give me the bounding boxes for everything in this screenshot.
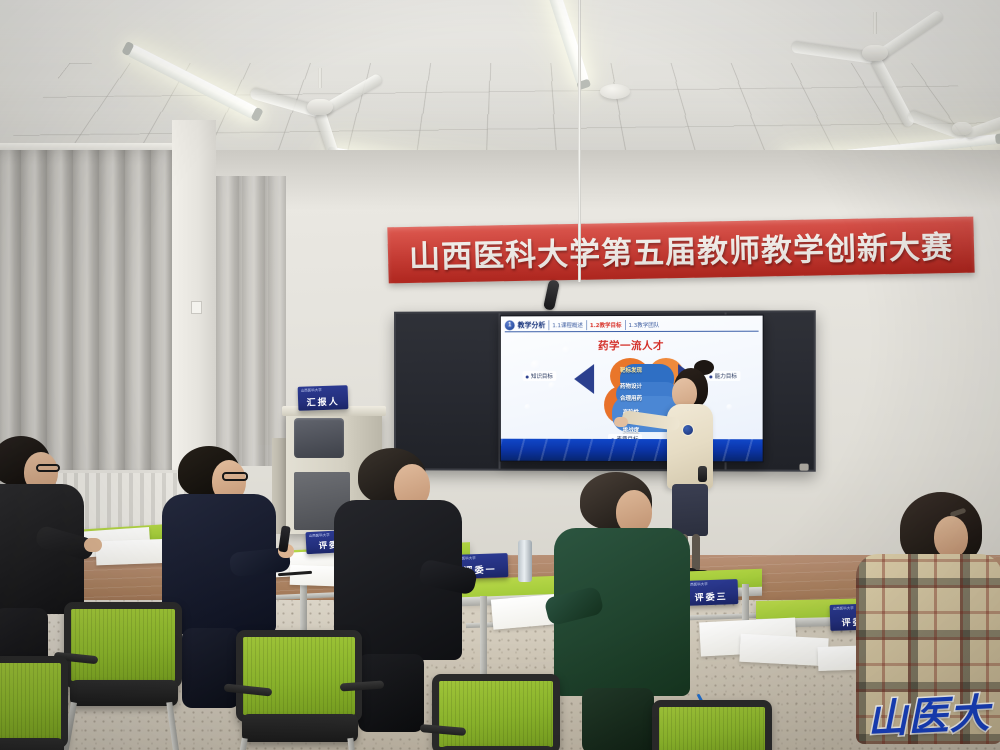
plate-label: 汇报人: [298, 394, 348, 409]
ceiling-fan-icon: [255, 84, 385, 130]
leg: [182, 628, 240, 708]
slide-tab-3[interactable]: 1.3教学团队: [629, 321, 660, 329]
chair[interactable]: [0, 656, 68, 748]
presenter-hand: [614, 417, 628, 427]
leg: [358, 654, 424, 732]
chair[interactable]: [236, 630, 362, 722]
hand: [84, 538, 102, 552]
slide-tab-1[interactable]: 1.1课程概述: [552, 321, 583, 329]
ceiling-fan-icon: [800, 30, 950, 76]
light-switch[interactable]: [191, 301, 202, 314]
slide-section-number: 1: [505, 320, 515, 330]
chair[interactable]: [652, 700, 772, 750]
plate-org: 山西医科大学: [833, 606, 854, 612]
competition-banner: 山西医科大学第五届教师教学创新大赛: [387, 217, 974, 284]
head: [934, 516, 968, 558]
tumbler-cup[interactable]: [518, 540, 532, 582]
chair[interactable]: [432, 674, 560, 750]
slide-title: 药学一流人才: [501, 338, 763, 353]
slide-section-title: 教学分析: [518, 320, 546, 330]
decor-bubble: [531, 360, 541, 370]
ceiling-fan-icon: [905, 110, 1000, 150]
decor-bubble: [548, 382, 555, 389]
presenter-plate: 山西医科大学 汇报人: [298, 385, 349, 411]
glasses-icon: [222, 472, 248, 481]
slide-tab-2[interactable]: 1.2教学目标: [590, 321, 622, 329]
plate-org: 山西医科大学: [301, 388, 322, 394]
decor-bubble: [525, 404, 531, 410]
smoke-detector-icon: [600, 84, 630, 99]
slide-nav-tabs: 1 教学分析 1.1课程概述 1.2教学目标 1.3教学团队: [505, 319, 759, 333]
table-leg: [480, 596, 487, 674]
classroom-photo: 山西医科大学第五届教师教学创新大赛 1 教学分析 1.1课程概述 1.2教学目标…: [0, 0, 1000, 750]
watermark-logo: 山医大: [866, 681, 992, 745]
goal-knowledge: 知识目标: [523, 371, 556, 381]
microphone-pole: [578, 0, 581, 282]
banner-text: 山西医科大学第五届教师教学创新大赛: [387, 221, 974, 277]
presenter-badge: [682, 424, 694, 436]
clicker-remote[interactable]: [698, 466, 707, 482]
paper-sheet: [739, 634, 828, 667]
decor-bubble: [562, 346, 570, 354]
chair[interactable]: [64, 602, 182, 688]
window-curtain-far: [216, 176, 286, 466]
leg: [582, 688, 654, 750]
glasses-icon: [36, 464, 60, 472]
